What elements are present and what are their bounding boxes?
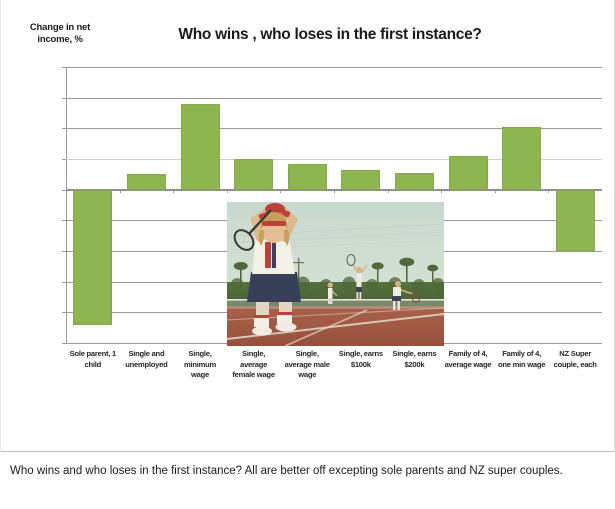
x-axis-label-line: Single, earns [339,349,383,358]
x-axis-label: Single,averagefemale wage [223,349,285,381]
y-axis-title-line-2: income, % [37,34,82,45]
y-axis-title: Change in net income, % [10,22,110,46]
x-axis-tick-mark [495,190,496,193]
x-axis-tick-mark [227,190,228,193]
y-axis-line [66,67,67,344]
x-axis-label-line: wage [191,370,209,379]
x-axis-label-line: one min wage [498,360,545,369]
x-axis-label-line: average male [285,360,330,369]
x-axis-tick-mark [388,190,389,193]
x-axis-label-line: minimum [184,360,216,369]
x-axis-label-line: unemployed [125,360,167,369]
x-axis-label-line: Single and [128,349,164,358]
x-axis-label-line: $200k [404,360,424,369]
bar [234,159,273,190]
x-axis-tick-mark [548,190,549,193]
bar [395,173,434,190]
x-axis-label-line: Family of 4, [502,349,541,358]
x-axis-label-line: Sole parent, 1 [70,349,116,358]
x-axis-label: Single, earns$100k [330,349,392,370]
x-axis-tick-mark [334,190,335,193]
bar [502,127,541,190]
y-axis-tick-mark [62,128,66,129]
y-axis-tick-mark [62,190,66,191]
y-axis-tick-mark [62,98,66,99]
y-axis-tick-mark [62,312,66,313]
x-axis-label-line: couple, each [554,360,597,369]
bar [288,164,327,190]
figure-caption: Who wins and who loses in the first inst… [10,463,605,480]
x-axis-label-line: average [240,360,267,369]
plot-top-border [66,67,602,68]
x-axis-label: Single andunemployed [116,349,178,370]
x-axis-tick-mark [280,190,281,193]
x-axis-label-line: child [85,360,101,369]
x-axis-label: Single,average malewage [276,349,338,381]
x-axis-label: Family of 4,one min wage [491,349,553,370]
y-axis-title-line-1: Change in net [30,22,90,33]
x-axis-label: NZ Supercouple, each [544,349,606,370]
x-axis-label-line: $100k [351,360,371,369]
x-axis-label: Sole parent, 1child [62,349,124,370]
bar [449,156,488,190]
gridline [66,98,602,99]
x-axis-tick-mark [441,190,442,193]
y-axis-tick-mark [62,67,66,68]
x-axis-label-line: Single, [188,349,211,358]
chart-title: Who wins , who loses in the first instan… [120,26,540,44]
x-axis-label-line: wage [298,370,316,379]
x-axis-label-line: Family of 4, [449,349,488,358]
x-axis-label-line: Single, [242,349,265,358]
y-axis-tick-mark [62,159,66,160]
x-axis-label: Single,minimumwage [169,349,231,381]
y-axis-tick-mark [62,251,66,252]
x-axis-label-line: female wage [232,370,274,379]
bar [127,174,166,189]
bar [181,104,220,190]
tennis-photo [227,202,444,346]
bar [556,190,595,251]
y-axis-tick-mark [62,220,66,221]
x-axis-tick-mark [120,190,121,193]
x-axis-labels: Sole parent, 1childSingle andunemployedS… [66,349,602,394]
x-axis-label-line: Single, [296,349,319,358]
x-axis-label-line: NZ Super [559,349,591,358]
y-axis-tick-mark [62,282,66,283]
y-axis-tick-mark [62,343,66,344]
x-axis-label: Family of 4,average wage [437,349,499,370]
x-axis-label-line: average wage [445,360,492,369]
x-axis-label: Single, earns$200k [384,349,446,370]
x-axis-label-line: Single, earns [392,349,436,358]
x-axis-tick-mark [173,190,174,193]
chart-card: Change in net income, % Who wins , who l… [0,0,615,452]
bar [73,190,112,325]
bar [341,170,380,190]
